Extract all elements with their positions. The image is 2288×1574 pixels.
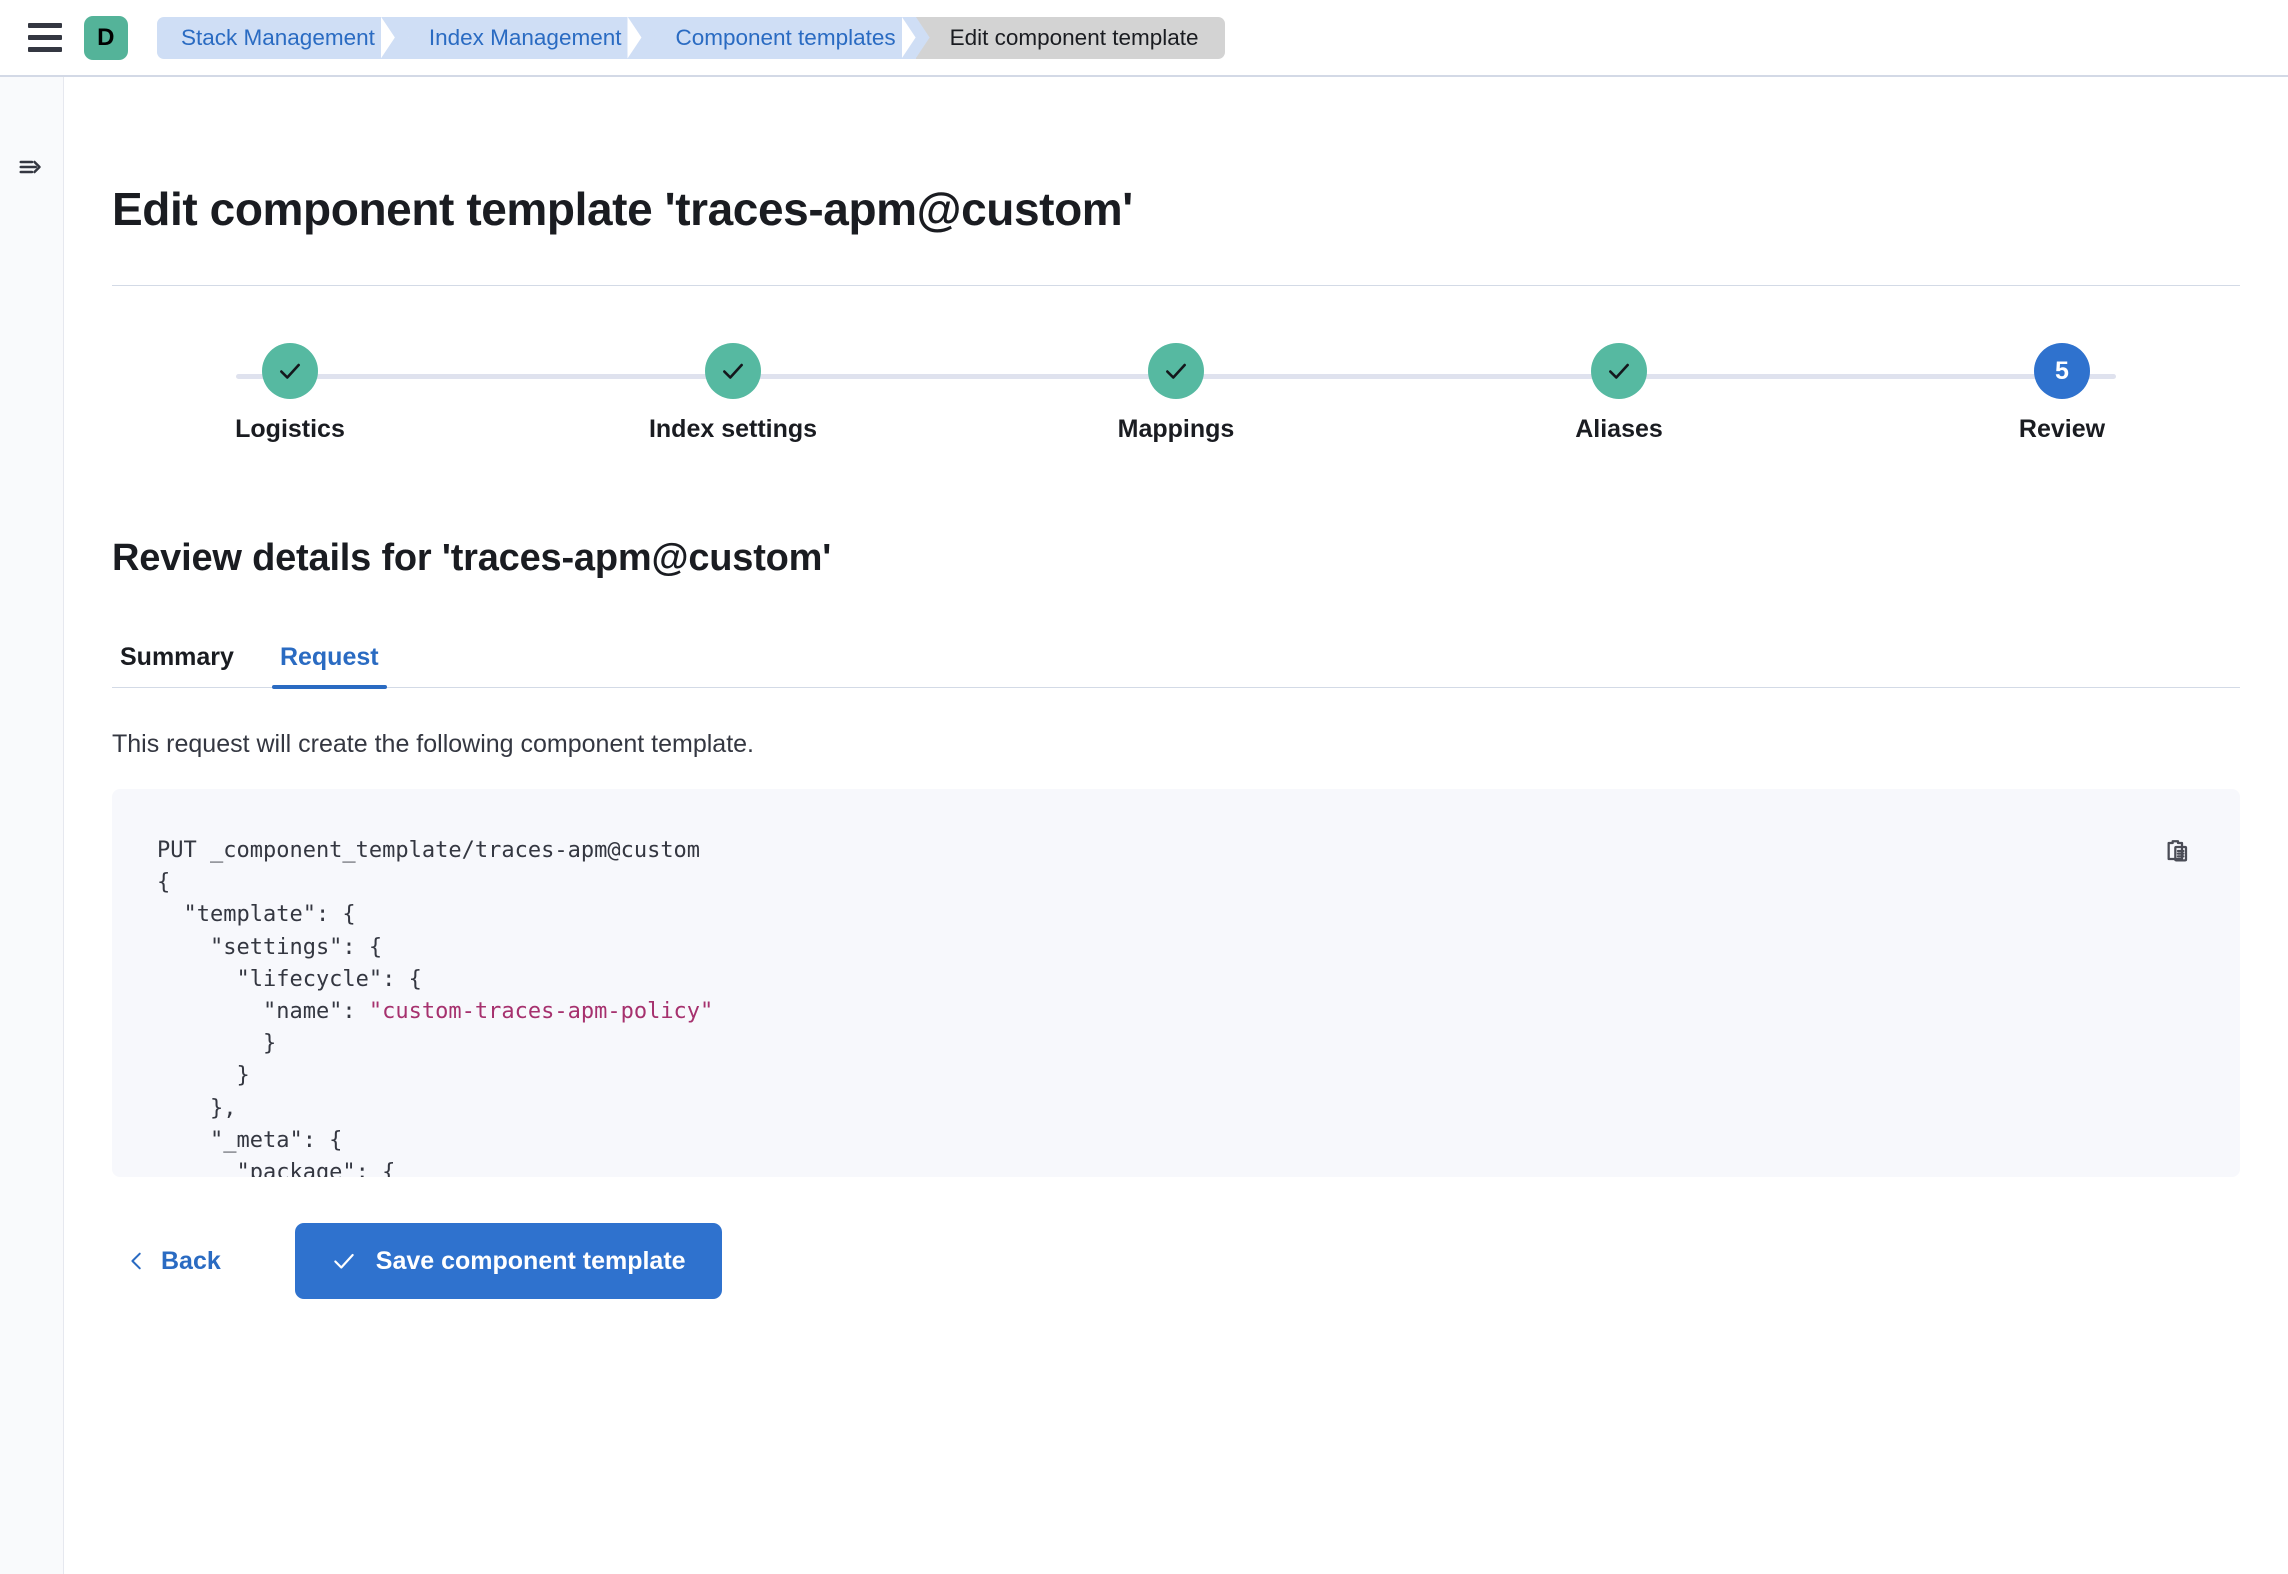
breadcrumb-item-stack-management[interactable]: Stack Management — [157, 17, 395, 59]
hamburger-bar — [28, 23, 62, 28]
back-button-label: Back — [161, 1247, 221, 1276]
step-label: Logistics — [235, 415, 345, 444]
step-circle-complete — [1591, 343, 1647, 399]
step-label: Aliases — [1575, 415, 1663, 444]
hamburger-bar — [28, 47, 62, 52]
breadcrumb-item-edit-component-template: Edit component template — [916, 17, 1225, 59]
tab-request[interactable]: Request — [272, 626, 387, 688]
check-icon — [331, 1248, 357, 1274]
chevron-left-icon — [126, 1250, 148, 1272]
space-avatar[interactable]: D — [84, 16, 128, 60]
tab-summary[interactable]: Summary — [112, 626, 242, 688]
expand-nav-arrow-icon[interactable] — [15, 150, 49, 184]
step-mappings[interactable]: Mappings — [1056, 343, 1296, 444]
request-description: This request will create the following c… — [112, 730, 2288, 759]
wizard-stepper: Logistics Index settings Mappings — [112, 343, 2240, 473]
top-chrome-bar: D Stack Management Index Management Comp… — [0, 0, 2288, 77]
check-icon — [720, 358, 746, 384]
save-component-template-button[interactable]: Save component template — [295, 1223, 722, 1299]
request-code-block: PUT _component_template/traces-apm@custo… — [112, 789, 2240, 1177]
section-title: Review details for 'traces-apm@custom' — [112, 537, 2288, 580]
page-content: Edit component template 'traces-apm@cust… — [64, 77, 2288, 1574]
step-logistics[interactable]: Logistics — [170, 343, 410, 444]
step-label: Review — [2019, 415, 2105, 444]
wizard-actions: Back Save component template — [112, 1223, 2288, 1299]
breadcrumb: Stack Management Index Management Compon… — [157, 17, 1225, 59]
save-button-label: Save component template — [376, 1247, 686, 1276]
breadcrumb-label: Stack Management — [181, 25, 375, 51]
check-icon — [1606, 358, 1632, 384]
step-label: Index settings — [649, 415, 817, 444]
hamburger-bar — [28, 35, 62, 40]
breadcrumb-label: Edit component template — [950, 25, 1199, 51]
step-aliases[interactable]: Aliases — [1499, 343, 1739, 444]
breadcrumb-item-index-management[interactable]: Index Management — [395, 17, 642, 59]
hamburger-menu-icon[interactable] — [28, 23, 62, 53]
step-circle-complete — [705, 343, 761, 399]
breadcrumb-label: Index Management — [429, 25, 622, 51]
copy-clipboard-icon[interactable] — [2158, 833, 2198, 873]
space-avatar-letter: D — [97, 24, 115, 52]
title-divider — [112, 285, 2240, 286]
step-circle-complete — [262, 343, 318, 399]
step-circle-current: 5 — [2034, 343, 2090, 399]
tab-label: Request — [280, 643, 379, 672]
back-button[interactable]: Back — [112, 1247, 237, 1276]
check-icon — [1163, 358, 1189, 384]
request-code-text: PUT _component_template/traces-apm@custo… — [157, 835, 2240, 1177]
step-number: 5 — [2055, 357, 2069, 386]
step-circle-complete — [1148, 343, 1204, 399]
step-index-settings[interactable]: Index settings — [613, 343, 853, 444]
left-side-rail — [0, 77, 64, 1574]
check-icon — [277, 358, 303, 384]
step-review[interactable]: 5 Review — [1942, 343, 2182, 444]
breadcrumb-label: Component templates — [675, 25, 895, 51]
review-tabs: Summary Request — [112, 626, 2240, 688]
tab-label: Summary — [120, 643, 234, 672]
breadcrumb-item-component-templates[interactable]: Component templates — [641, 17, 915, 59]
step-label: Mappings — [1118, 415, 1235, 444]
page-title: Edit component template 'traces-apm@cust… — [112, 182, 2288, 236]
